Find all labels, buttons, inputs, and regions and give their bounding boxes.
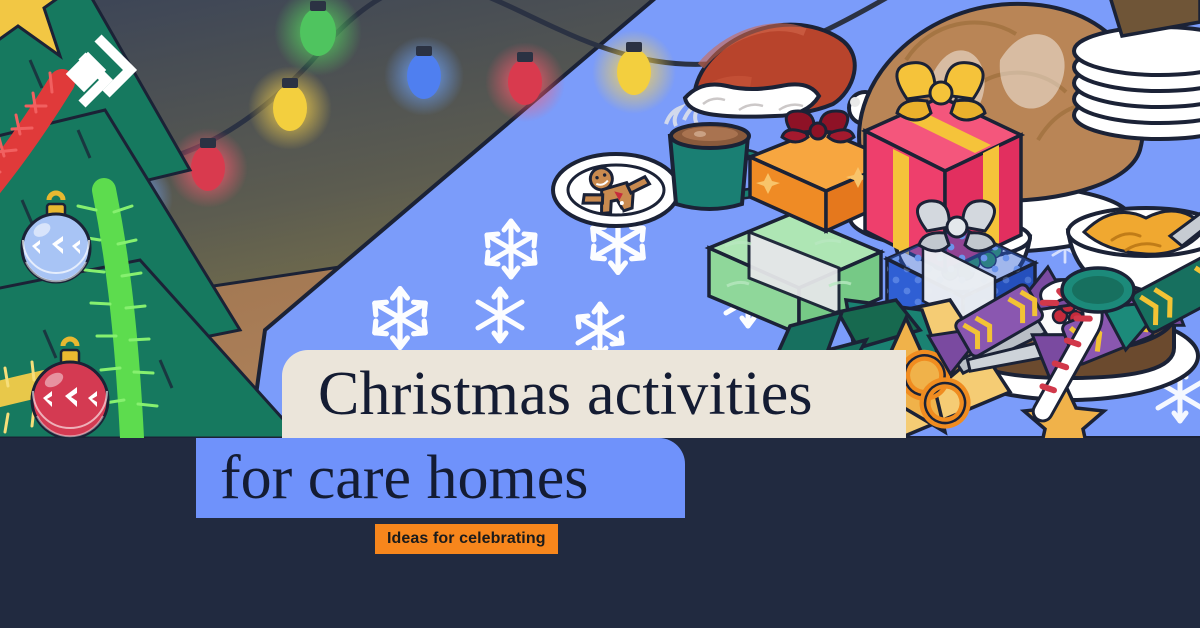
headline-line1: Christmas activities bbox=[318, 363, 813, 425]
headline-band-line2: for care homes bbox=[196, 438, 685, 518]
tin-lid bbox=[1062, 268, 1134, 312]
headline-band-line1: Christmas activities bbox=[282, 350, 906, 438]
chevron-diamond-logo-icon bbox=[62, 30, 144, 116]
kicker-band: Ideas for celebrating bbox=[375, 524, 558, 554]
gingerbread-man-on-plate bbox=[553, 154, 679, 226]
stacked-plates bbox=[1074, 27, 1200, 139]
headline-line2: for care homes bbox=[220, 447, 588, 509]
brand-logo[interactable] bbox=[62, 30, 144, 116]
kicker-text: Ideas for celebrating bbox=[387, 530, 546, 548]
share-banner: Christmas activities for care homes Idea… bbox=[0, 0, 1200, 628]
